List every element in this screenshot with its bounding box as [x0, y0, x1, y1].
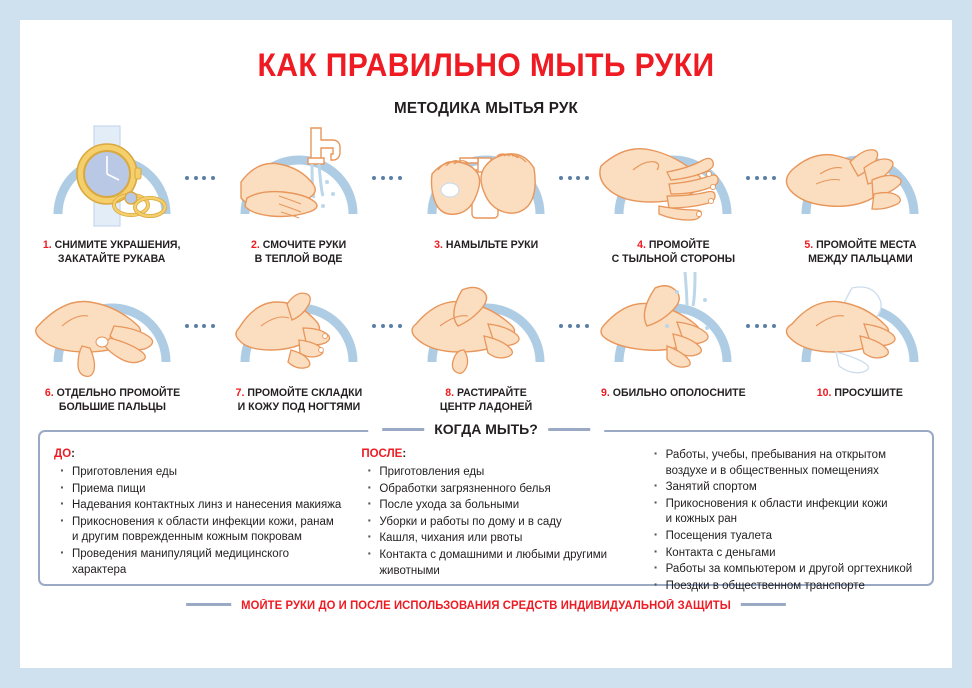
- step-9-label: ОБИЛЬНО ОПОЛОСНИТЕ: [612, 387, 745, 399]
- steps-row-2: 6. ОТДЕЛЬНО ПРОМОЙТЕ БОЛЬШИЕ ПАЛЬЦЫ 7. П: [20, 270, 952, 414]
- step-2-caption: 2. СМОЧИТЕ РУКИ В ТЕПЛОЙ ВОДЕ: [251, 238, 346, 266]
- after-column-continued: Работы, учебы, пребывания на открытом во…: [648, 448, 922, 595]
- step-5-caption: 5. ПРОМОЙТЕ МЕСТА МЕЖДУ ПАЛЬЦАМИ: [804, 238, 916, 266]
- list-item: Приема пищи: [54, 482, 353, 498]
- connector-dots-9: [746, 324, 776, 330]
- heading-rule-right: [548, 428, 590, 431]
- connector-dots-4: [746, 176, 776, 182]
- when-to-wash-heading: КОГДА МЫТЬ?: [368, 421, 604, 437]
- list-item: Занятий спортом: [648, 480, 922, 496]
- before-column: ДО: Приготовления еды Приема пищи Надева…: [54, 448, 353, 595]
- heading-rule-left: [382, 428, 424, 431]
- step-8-label: РАСТИРАЙТЕ ЦЕНТР ЛАДОНЕЙ: [440, 387, 532, 413]
- step-3-caption: 3. НАМЫЛЬТЕ РУКИ: [434, 238, 538, 252]
- step-5-label: ПРОМОЙТЕ МЕСТА МЕЖДУ ПАЛЬЦАМИ: [808, 239, 916, 265]
- footer-banner: МОЙТЕ РУКИ ДО И ПОСЛЕ ИСПОЛЬЗОВАНИЯ СРЕД…: [29, 600, 942, 612]
- before-heading-text: ДО: [54, 448, 71, 460]
- step-1: 1. СНИМИТЕ УКРАШЕНИЯ, ЗАКАТАЙТЕ РУКАВА: [26, 122, 198, 266]
- step-9: 9. ОБИЛЬНО ОПОЛОСНИТЕ: [587, 270, 759, 400]
- step-2-number: 2.: [251, 239, 260, 251]
- list-item: Приготовления еды: [54, 465, 353, 481]
- when-columns: ДО: Приготовления еды Приема пищи Надева…: [40, 432, 932, 595]
- step-7-label: ПРОМОЙТЕ СКЛАДКИ И КОЖУ ПОД НОГТЯМИ: [238, 387, 363, 413]
- connector-dots-3: [559, 176, 589, 182]
- step-3-label: НАМЫЛЬТЕ РУКИ: [446, 239, 538, 251]
- step-3-number: 3.: [434, 239, 443, 251]
- footer-rule-right: [741, 603, 786, 606]
- step-9-caption: 9. ОБИЛЬНО ОПОЛОСНИТЕ: [601, 386, 746, 400]
- step-5-number: 5.: [804, 239, 813, 251]
- list-item: После ухода за больными: [361, 498, 639, 514]
- steps-row-1: 1. СНИМИТЕ УКРАШЕНИЯ, ЗАКАТАЙТЕ РУКАВА 2: [20, 122, 952, 266]
- connector-dots-6: [185, 324, 215, 330]
- step-1-caption: 1. СНИМИТЕ УКРАШЕНИЯ, ЗАКАТАЙТЕ РУКАВА: [43, 238, 181, 266]
- before-heading: ДО:: [54, 448, 353, 460]
- list-item: Приготовления еды: [361, 465, 639, 481]
- step-6-caption: 6. ОТДЕЛЬНО ПРОМОЙТЕ БОЛЬШИЕ ПАЛЬЦЫ: [44, 386, 179, 414]
- step-1-number: 1.: [43, 239, 52, 251]
- step-7-caption: 7. ПРОМОЙТЕ СКЛАДКИ И КОЖУ ПОД НОГТЯМИ: [236, 386, 363, 414]
- connector-dots-2: [372, 176, 402, 182]
- step-10-number: 10.: [817, 387, 832, 399]
- step-10: 10. ПРОСУШИТЕ: [774, 270, 946, 400]
- back-of-hand-icon: [589, 122, 757, 230]
- step-8-caption: 8. РАСТИРАЙТЕ ЦЕНТР ЛАДОНЕЙ: [440, 386, 532, 414]
- step-2: 2. СМОЧИТЕ РУКИ В ТЕПЛОЙ ВОДЕ: [213, 122, 385, 266]
- step-4-label: ПРОМОЙТЕ С ТЫЛЬНОЙ СТОРОНЫ: [611, 239, 735, 265]
- connector-dots-8: [559, 324, 589, 330]
- interlaced-fingers-icon: [776, 122, 944, 230]
- after-heading: ПОСЛЕ:: [361, 448, 639, 460]
- after-list: Приготовления еды Обработки загрязненног…: [361, 465, 639, 579]
- step-2-label: СМОЧИТЕ РУКИ В ТЕПЛОЙ ВОДЕ: [255, 239, 347, 265]
- list-item: Обработки загрязненного белья: [361, 482, 639, 498]
- dry-hands-towel-icon: [776, 270, 944, 378]
- step-6: 6. ОТДЕЛЬНО ПРОМОЙТЕ БОЛЬШИЕ ПАЛЬЦЫ: [26, 270, 198, 414]
- list-item: Прикосновения к области инфекции кожи, р…: [54, 515, 353, 546]
- when-to-wash-heading-text: КОГДА МЫТЬ?: [434, 421, 538, 437]
- step-10-caption: 10. ПРОСУШИТЕ: [817, 386, 903, 400]
- soap-dispenser-icon: [402, 122, 570, 230]
- palm-rub-icon: [402, 270, 570, 378]
- step-5: 5. ПРОМОЙТЕ МЕСТА МЕЖДУ ПАЛЬЦАМИ: [774, 122, 946, 266]
- rinse-hands-icon: [589, 270, 757, 378]
- step-10-label: ПРОСУШИТЕ: [835, 387, 903, 399]
- step-7-number: 7.: [236, 387, 245, 399]
- section-subtitle: МЕТОДИКА МЫТЬЯ РУК: [43, 100, 928, 118]
- list-item: Кашля, чихания или рвоты: [361, 531, 639, 547]
- list-item: Уборки и работы по дому и в саду: [361, 515, 639, 531]
- list-item: Проведения манипуляций медицинского хара…: [54, 547, 353, 578]
- step-4-number: 4.: [637, 239, 646, 251]
- step-7: 7. ПРОМОЙТЕ СКЛАДКИ И КОЖУ ПОД НОГТЯМИ: [213, 270, 385, 414]
- step-8: 8. РАСТИРАЙТЕ ЦЕНТР ЛАДОНЕЙ: [400, 270, 572, 414]
- step-6-number: 6.: [44, 387, 53, 399]
- list-item: Поездки в общественном транспорте: [648, 579, 922, 595]
- list-item: Контакта с домашними и любыми другими жи…: [361, 548, 639, 579]
- connector-dots-7: [372, 324, 402, 330]
- list-item: Работы за компьютером и другой оргтехник…: [648, 562, 922, 578]
- before-list: Приготовления еды Приема пищи Надевания …: [54, 465, 353, 578]
- after-heading-text: ПОСЛЕ: [361, 448, 402, 460]
- hands-under-faucet-icon: [215, 122, 383, 230]
- after-list-continued: Работы, учебы, пребывания на открытом во…: [648, 448, 922, 594]
- watch-and-rings-icon: [28, 122, 196, 230]
- after-heading-colon: :: [402, 448, 406, 460]
- step-4: 4. ПРОМОЙТЕ С ТЫЛЬНОЙ СТОРОНЫ: [587, 122, 759, 266]
- footer-text: МОЙТЕ РУКИ ДО И ПОСЛЕ ИСПОЛЬЗОВАНИЯ СРЕД…: [241, 600, 731, 612]
- list-item: Надевания контактных линз и нанесения ма…: [54, 498, 353, 514]
- list-item: Работы, учебы, пребывания на открытом во…: [648, 448, 922, 479]
- page-title: КАК ПРАВИЛЬНО МЫТЬ РУКИ: [48, 47, 924, 84]
- nails-scrub-icon: [215, 270, 383, 378]
- poster: КАК ПРАВИЛЬНО МЫТЬ РУКИ МЕТОДИКА МЫТЬЯ Р…: [20, 20, 952, 668]
- step-1-label: СНИМИТЕ УКРАШЕНИЯ, ЗАКАТАЙТЕ РУКАВА: [55, 239, 181, 265]
- step-8-number: 8.: [445, 387, 454, 399]
- when-to-wash-box: КОГДА МЫТЬ? ДО: Приготовления еды Приема…: [38, 430, 934, 586]
- list-item: Прикосновения к области инфекции кожи и …: [648, 497, 922, 528]
- step-6-label: ОТДЕЛЬНО ПРОМОЙТЕ БОЛЬШИЕ ПАЛЬЦЫ: [56, 387, 180, 413]
- footer-rule-left: [186, 603, 231, 606]
- connector-dots-1: [185, 176, 215, 182]
- thumb-scrub-icon: [28, 270, 196, 378]
- list-item: Контакта с деньгами: [648, 546, 922, 562]
- step-3: 3. НАМЫЛЬТЕ РУКИ: [400, 122, 572, 252]
- list-item: Посещения туалета: [648, 529, 922, 545]
- before-heading-colon: :: [71, 448, 75, 460]
- step-4-caption: 4. ПРОМОЙТЕ С ТЫЛЬНОЙ СТОРОНЫ: [611, 238, 735, 266]
- after-column: ПОСЛЕ: Приготовления еды Обработки загря…: [361, 448, 639, 595]
- step-9-number: 9.: [601, 387, 610, 399]
